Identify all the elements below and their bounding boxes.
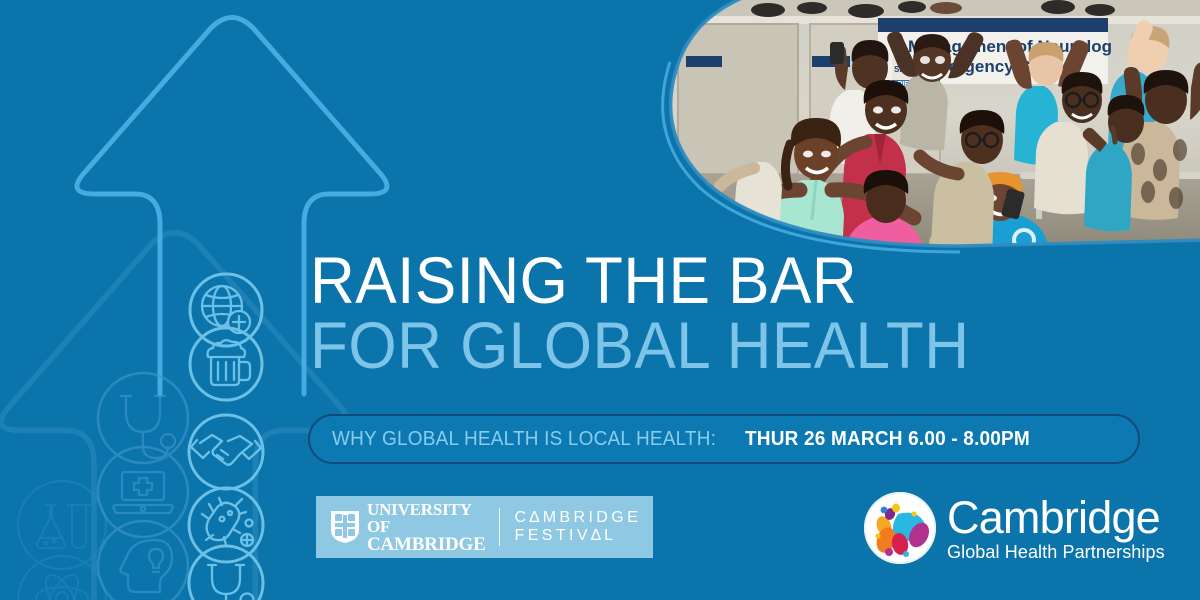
cambridge-festival-lockup: UNIVERSITY OF CAMBRIDGE C∆MBRIDGE FESTIV… [316,496,653,558]
university-line-1: UNIVERSITY OF [367,501,486,535]
title-line-primary: RAISING THE BAR [310,248,970,313]
event-details-pill: WHY GLOBAL HEALTH IS LOCAL HEALTH: THUR … [308,414,1140,464]
cghp-tagline: Global Health Partnerships [947,543,1165,561]
cghp-name: Cambridge [947,495,1165,540]
title-line-secondary: FOR GLOBAL HEALTH [310,313,970,378]
lockup-divider [499,508,500,546]
cambridge-crest-icon [330,510,360,544]
university-wordmark: UNIVERSITY OF CAMBRIDGE [367,501,486,554]
cghp-logo: Cambridge Global Health Partnerships [862,490,1165,566]
cghp-blob-circle-icon [862,490,938,566]
event-datetime: THUR 26 MARCH 6.00 - 8.00PM [745,428,1030,451]
page-title: RAISING THE BAR FOR GLOBAL HEALTH [310,248,1012,377]
festival-line-1: C∆MBRIDGE [515,509,642,527]
festival-wordmark: C∆MBRIDGE FESTIV∆L [515,509,642,546]
university-line-2: CAMBRIDGE [367,535,486,554]
event-subtitle-question: WHY GLOBAL HEALTH IS LOCAL HEALTH: [332,428,716,451]
cghp-wordmark: Cambridge Global Health Partnerships [947,495,1165,561]
event-photo: Management of Neurolog Emergency Care SI… [660,0,1200,256]
festival-line-2: FESTIV∆L [515,527,642,545]
